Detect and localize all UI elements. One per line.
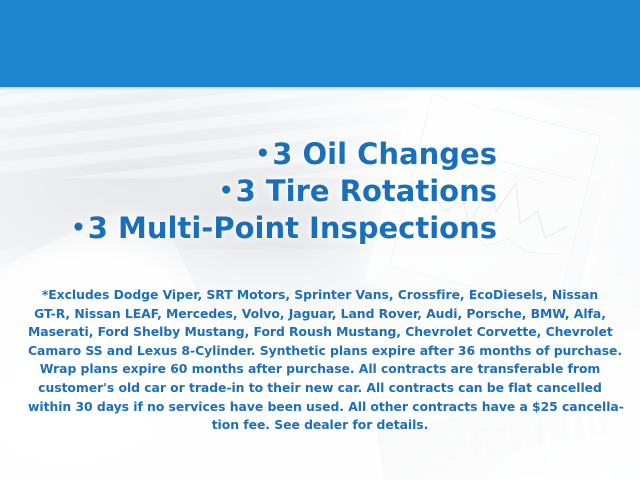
disclaimer-line: customer's old car or trade-in to their … [28, 379, 612, 398]
disclaimer-text: *Excludes Dodge Viper, SRT Motors, Sprin… [28, 286, 612, 435]
list-item-label: 3 Oil Changes [272, 137, 497, 171]
bullet-dot-icon: • [219, 178, 234, 204]
bullet-dot-icon: • [256, 141, 271, 167]
offer-bullet-list: •3 Oil Changes •3 Tire Rotations •3 Mult… [0, 136, 497, 247]
bullet-dot-icon: • [71, 215, 86, 241]
header-banner [0, 0, 640, 87]
list-item-label: 3 Tire Rotations [236, 174, 497, 208]
disclaimer-line: within 30 days if no services have been … [28, 398, 612, 417]
disclaimer-line: *Excludes Dodge Viper, SRT Motors, Sprin… [28, 286, 612, 305]
list-item: •3 Multi-Point Inspections [0, 210, 497, 247]
list-item: •3 Oil Changes [0, 136, 497, 173]
disclaimer-line: GT-R, Nissan LEAF, Mercedes, Volvo, Jagu… [28, 305, 612, 324]
disclaimer-line: Maserati, Ford Shelby Mustang, Ford Rous… [28, 323, 612, 342]
header-divider [0, 87, 640, 91]
list-item: •3 Tire Rotations [0, 173, 497, 210]
disclaimer-line: Camaro SS and Lexus 8-Cylinder. Syntheti… [28, 342, 612, 361]
disclaimer-line: tion fee. See dealer for details. [28, 416, 612, 435]
disclaimer-line: Wrap plans expire 60 months after purcha… [28, 360, 612, 379]
extracare-package-ad: ExtraCare Package* •3 Oil Changes •3 Tir… [0, 0, 640, 480]
list-item-label: 3 Multi-Point Inspections [88, 211, 497, 245]
